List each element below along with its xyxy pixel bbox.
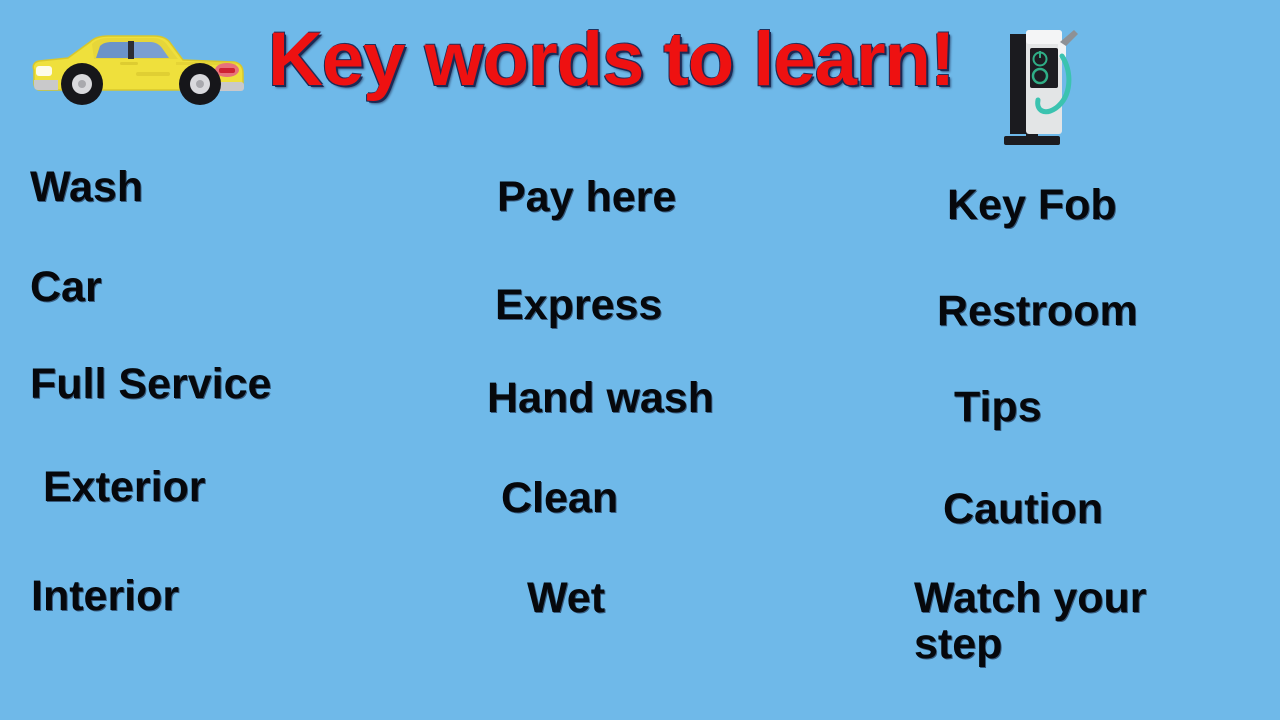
vocabulary-slide: Key words to learn! bbox=[0, 0, 1280, 720]
word-item: Restroom bbox=[937, 288, 1138, 334]
word-item: Full Service bbox=[30, 361, 271, 407]
word-item: Caution bbox=[943, 486, 1103, 532]
word-item: Exterior bbox=[43, 464, 206, 510]
word-item: Car bbox=[30, 264, 102, 310]
pickup-truck-icon bbox=[28, 22, 258, 110]
word-item: Key Fob bbox=[947, 182, 1117, 228]
word-item: Tips bbox=[954, 384, 1042, 430]
word-list: Wash Car Full Service Exterior Interior … bbox=[0, 150, 1280, 720]
word-item: Clean bbox=[501, 475, 618, 521]
slide-title: Key words to learn! bbox=[268, 22, 954, 98]
word-item: Pay here bbox=[497, 174, 676, 220]
word-item: Interior bbox=[31, 573, 179, 619]
word-item: Watch your step bbox=[914, 575, 1214, 668]
word-item: Wet bbox=[527, 575, 605, 621]
word-item: Hand wash bbox=[487, 375, 714, 421]
ev-charging-station-icon bbox=[996, 20, 1082, 150]
word-item: Express bbox=[495, 282, 662, 328]
slide-header: Key words to learn! bbox=[0, 0, 1280, 150]
word-item: Wash bbox=[30, 164, 143, 210]
